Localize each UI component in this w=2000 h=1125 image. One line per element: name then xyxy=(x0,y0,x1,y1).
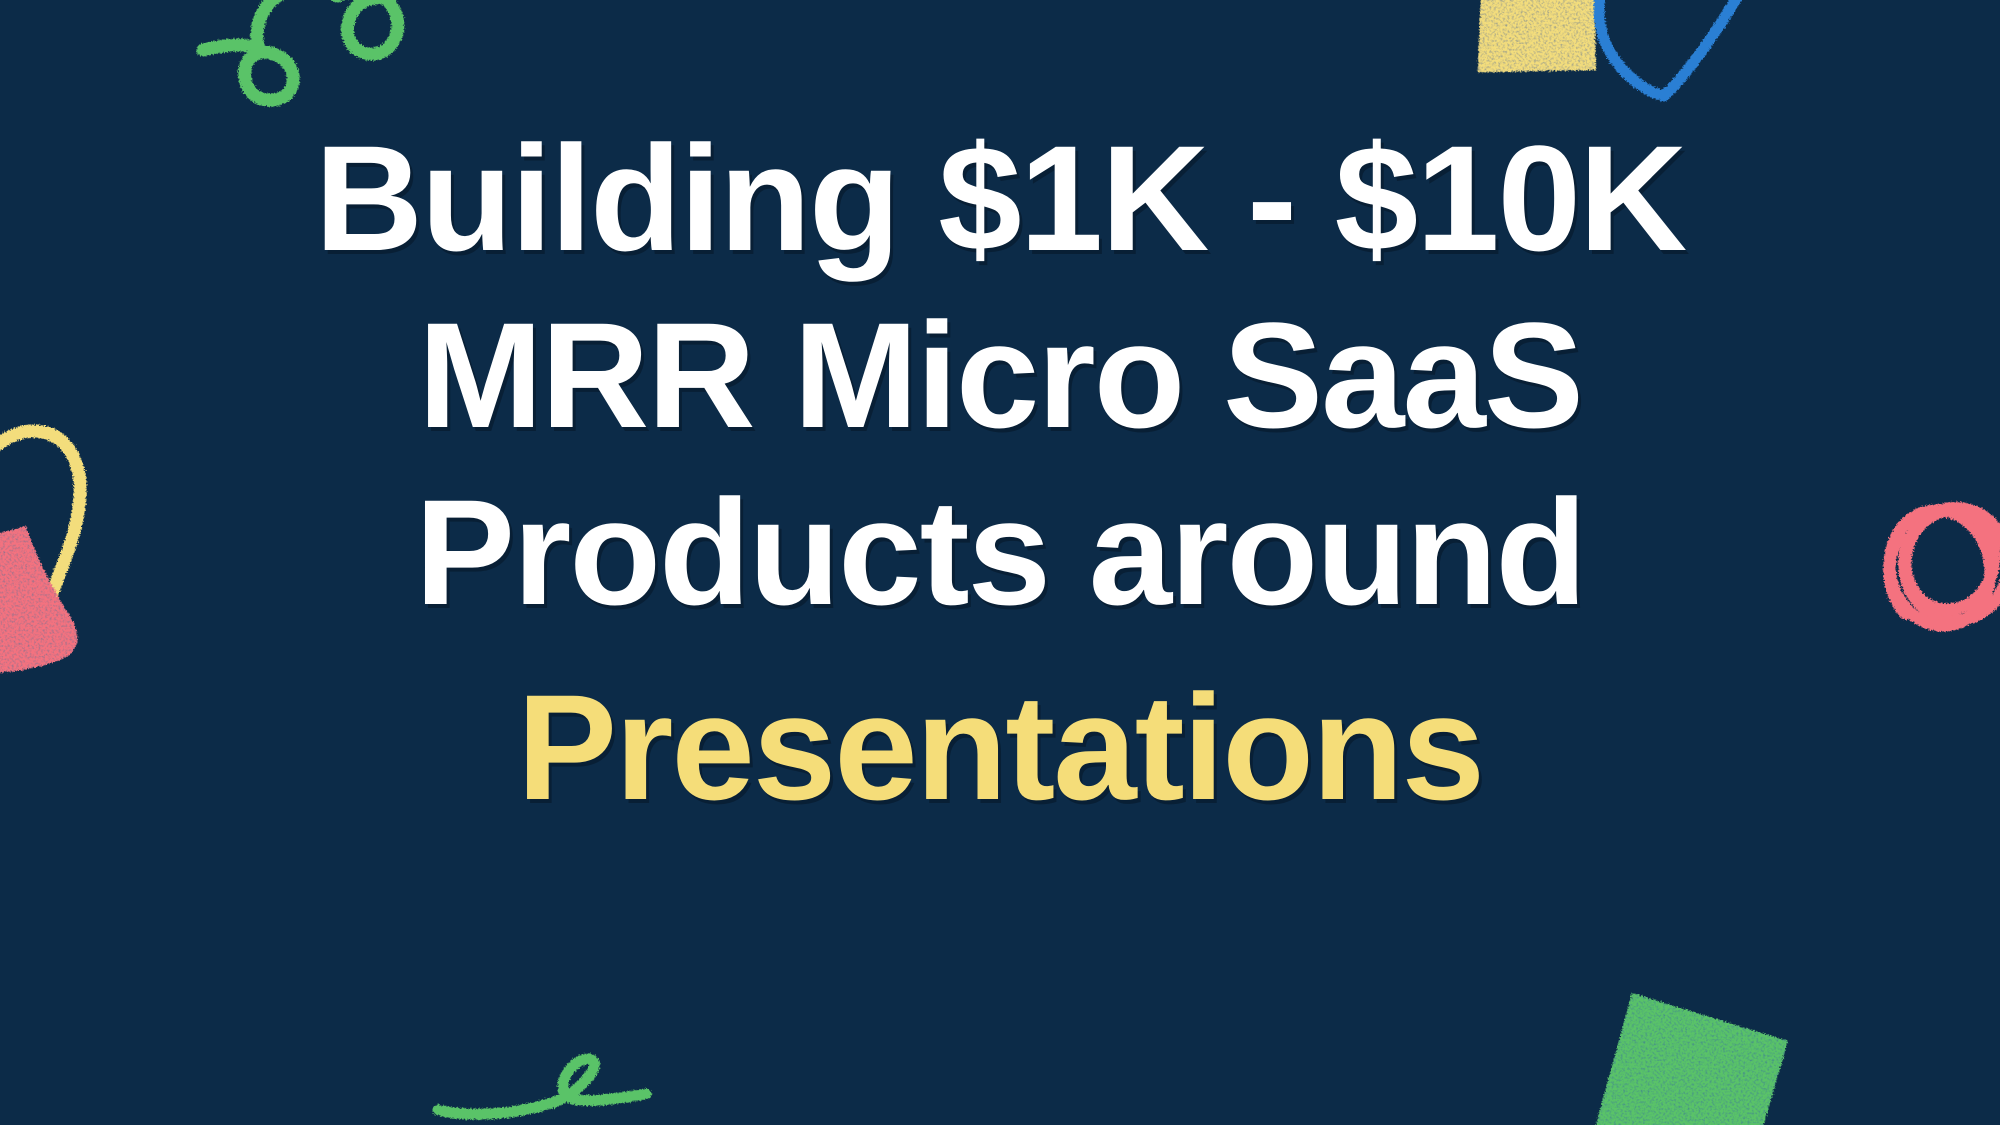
title-line-3: Products around xyxy=(415,464,1585,641)
green-loop-squiggle-bottom-icon xyxy=(432,1052,672,1125)
slide-title: Building $1K - $10K MRR Micro SaaS Produ… xyxy=(0,110,2000,836)
title-line-1: Building $1K - $10K xyxy=(315,110,1686,287)
green-loop-squiggle-top-left-icon xyxy=(195,0,425,112)
title-line-2: MRR Micro SaaS xyxy=(418,287,1582,464)
green-square-bottom-right-icon xyxy=(1590,975,1820,1125)
title-line-4-accent: Presentations xyxy=(517,659,1483,836)
yellow-square-top-right-icon xyxy=(1452,0,1622,118)
slide-canvas: Building $1K - $10K MRR Micro SaaS Produ… xyxy=(0,0,2000,1125)
